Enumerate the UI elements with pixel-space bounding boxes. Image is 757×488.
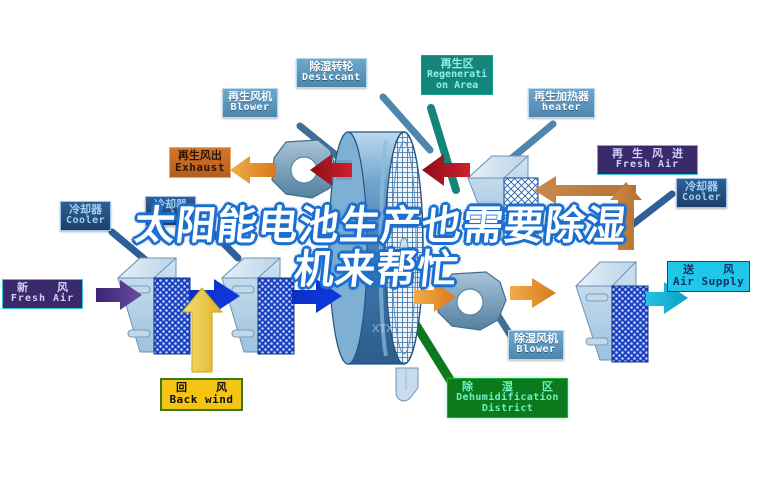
label-desiccant-en: Desiccant bbox=[302, 73, 361, 84]
label-regeneration-area-en2: on Area bbox=[427, 81, 487, 92]
label-regeneration-heater[interactable]: 再生加热器 heater bbox=[528, 88, 595, 118]
title-overlay-line2: 机来帮忙 bbox=[0, 248, 757, 292]
label-back-wind[interactable]: 回 风 Back wind bbox=[160, 378, 243, 411]
label-dehumidification-blower[interactable]: 除湿风机 Blower bbox=[508, 330, 564, 360]
label-regeneration-fresh-air[interactable]: 再生风进 Fresh Air bbox=[597, 145, 698, 175]
label-back-wind-en: Back wind bbox=[167, 394, 236, 406]
label-dehumidification-blower-en: Blower bbox=[514, 345, 558, 356]
label-exhaust-en: Exhaust bbox=[175, 162, 225, 174]
dehumidifier-schematic-diagram: XTX 除湿转轮 Desiccant 再生风机 Blower 再生区 Regen… bbox=[0, 0, 757, 488]
label-regeneration-blower-en: Blower bbox=[228, 103, 272, 114]
label-fresh-air-en: Fresh Air bbox=[8, 294, 77, 305]
label-regeneration-heater-en: heater bbox=[534, 103, 589, 114]
title-overlay: 太阳能电池生产也需要除湿 机来帮忙 bbox=[0, 204, 757, 292]
label-dehumidification-district-en2: District bbox=[453, 404, 562, 415]
label-regeneration-blower[interactable]: 再生风机 Blower bbox=[222, 88, 278, 118]
label-regeneration-area[interactable]: 再生区 Regenerati on Area bbox=[421, 55, 493, 95]
watermark-text: XTX bbox=[372, 323, 394, 335]
label-dehumidification-district[interactable]: 除 湿 区 Dehumidification District bbox=[447, 378, 568, 418]
label-exhaust[interactable]: 再生风出 Exhaust bbox=[169, 147, 231, 178]
exhaust-flow-arrow bbox=[230, 156, 276, 184]
label-desiccant[interactable]: 除湿转轮 Desiccant bbox=[296, 58, 367, 88]
title-overlay-line1: 太阳能电池生产也需要除湿 bbox=[132, 203, 629, 249]
condensate-drain-pan bbox=[396, 368, 418, 401]
label-cooler-right-en: Cooler bbox=[682, 193, 721, 204]
label-regeneration-fresh-air-en: Fresh Air bbox=[603, 160, 692, 171]
